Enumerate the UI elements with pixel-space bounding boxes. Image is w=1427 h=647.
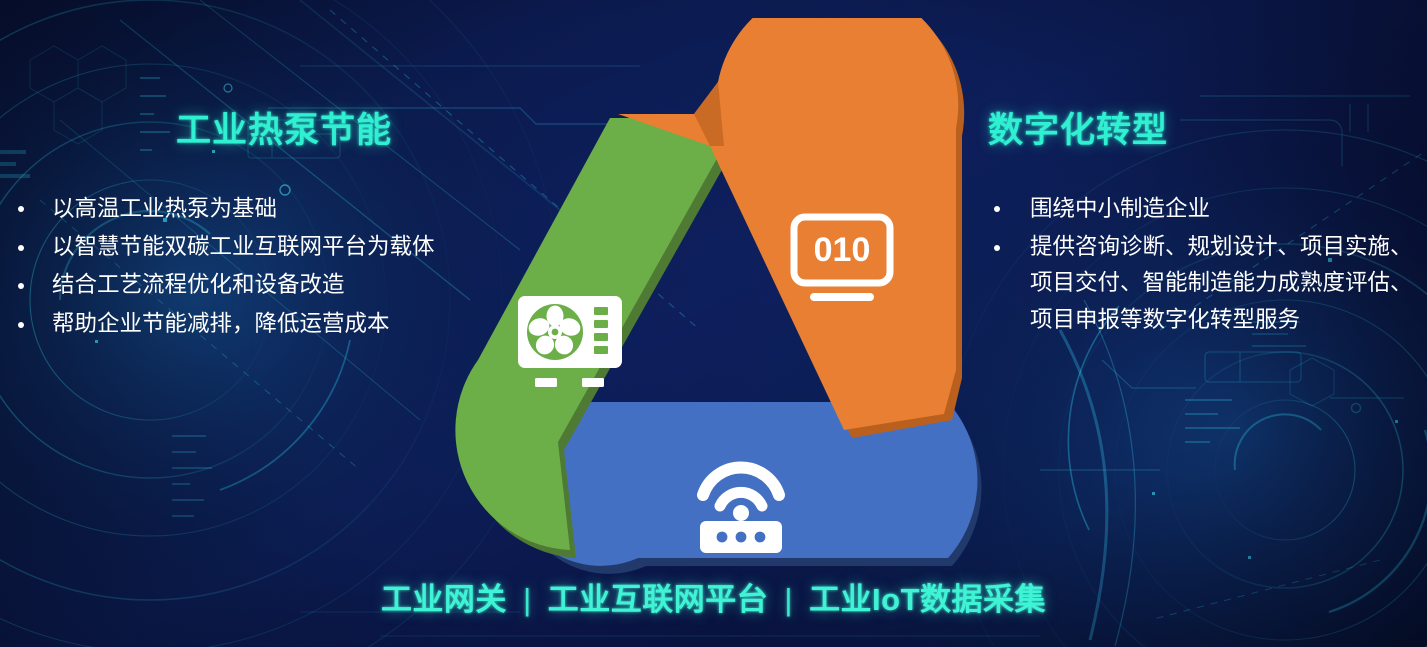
list-item-text: 提供咨询诊断、规划设计、项目实施、项目交付、智能制造能力成熟度评估、项目申报等数… xyxy=(1030,234,1413,332)
monitor-binary-icon: 010 xyxy=(790,213,894,305)
bullet-dot-icon xyxy=(18,245,24,251)
footer-item-iot: 工业IoT数据采集 xyxy=(809,582,1046,617)
footer-item-platform: 工业互联网平台 xyxy=(548,582,769,617)
left-bullet-list: 以高温工业热泵为基础 以智慧节能双碳工业互联网平台为载体 结合工艺流程优化和设备… xyxy=(0,191,452,343)
list-item-text: 围绕中小制造企业 xyxy=(1030,196,1210,221)
list-item: 结合工艺流程优化和设备改造 xyxy=(0,267,452,303)
list-item-text: 以高温工业热泵为基础 xyxy=(52,196,277,221)
list-item: 帮助企业节能减排，降低运营成本 xyxy=(0,306,452,342)
bullet-dot-icon xyxy=(18,206,24,212)
bullet-dot-icon xyxy=(18,283,24,289)
list-item: 以智慧节能双碳工业互联网平台为载体 xyxy=(0,229,452,265)
list-item-text: 帮助企业节能减排，降低运营成本 xyxy=(52,311,390,336)
left-column-title: 工业热泵节能 xyxy=(0,112,452,151)
list-item: 围绕中小制造企业 xyxy=(968,191,1427,227)
heat-pump-icon xyxy=(518,296,622,392)
left-column: 工业热泵节能 以高温工业热泵为基础 以智慧节能双碳工业互联网平台为载体 结合工艺… xyxy=(0,112,452,344)
wifi-router-icon xyxy=(688,455,794,553)
recycle-triangle-diagram: 010 xyxy=(432,18,1032,580)
right-column-title: 数字化转型 xyxy=(968,112,1427,151)
list-item: 提供咨询诊断、规划设计、项目实施、项目交付、智能制造能力成熟度评估、项目申报等数… xyxy=(968,229,1427,338)
list-item-text: 结合工艺流程优化和设备改造 xyxy=(52,272,345,297)
footer-separator: | xyxy=(777,582,800,617)
slide-canvas: 010 工业热泵节能 xyxy=(0,0,1427,647)
footer-caption: 工业网关 | 工业互联网平台 | 工业IoT数据采集 xyxy=(0,574,1427,619)
monitor-binary-label: 010 xyxy=(814,231,871,269)
right-bullet-list: 围绕中小制造企业 提供咨询诊断、规划设计、项目实施、项目交付、智能制造能力成熟度… xyxy=(968,191,1427,339)
footer-separator: | xyxy=(516,582,539,617)
bullet-dot-icon xyxy=(994,245,1000,251)
right-column: 数字化转型 围绕中小制造企业 提供咨询诊断、规划设计、项目实施、项目交付、智能制… xyxy=(968,112,1427,340)
list-item-text: 以智慧节能双碳工业互联网平台为载体 xyxy=(52,234,435,259)
bullet-dot-icon xyxy=(994,206,1000,212)
footer-item-gateway: 工业网关 xyxy=(381,582,507,617)
bullet-dot-icon xyxy=(18,322,24,328)
list-item: 以高温工业热泵为基础 xyxy=(0,191,452,227)
